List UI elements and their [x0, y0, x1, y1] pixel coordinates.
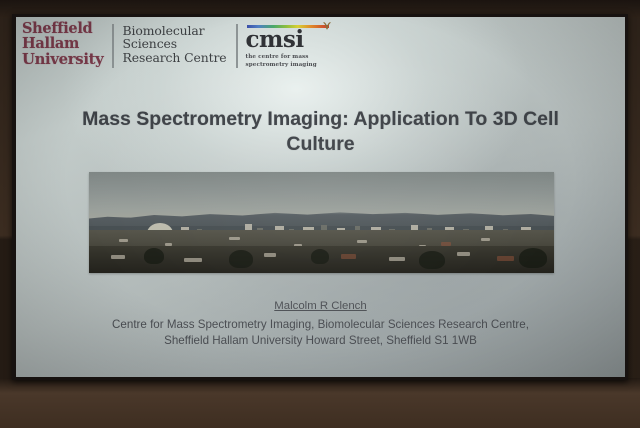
photo-detail — [111, 255, 125, 259]
slide-title: Mass Spectrometry Imaging: Application T… — [68, 107, 573, 156]
bsrc-logo-line2: Sciences — [122, 37, 226, 50]
photo-detail — [519, 248, 547, 268]
photo-detail — [229, 250, 253, 268]
photo-detail — [341, 254, 356, 259]
slide-header-logos: Sheffield Hallam University Biomolecular… — [16, 17, 625, 75]
photo-detail — [457, 252, 470, 256]
wall-below-screen — [0, 378, 640, 428]
sheffield-hallam-university-logo: Sheffield Hallam University — [22, 22, 103, 67]
cmsi-sparkle-icon: ⋎ — [323, 20, 331, 31]
bsrc-logo-line1: Biomolecular — [122, 24, 226, 37]
cmsi-tagline: the centre for mass spectrometry imaging — [246, 53, 329, 70]
logo-divider-1 — [112, 24, 114, 68]
affiliation-block: Centre for Mass Spectrometry Imaging, Bi… — [58, 317, 583, 349]
photo-detail — [144, 248, 164, 264]
photo-detail — [311, 249, 329, 264]
photo-detail — [119, 239, 128, 242]
photo-detail — [389, 257, 405, 261]
sheffield-panorama-photo — [89, 172, 554, 273]
biomolecular-sciences-research-centre-logo: Biomolecular Sciences Research Centre — [122, 22, 226, 64]
shu-logo-line2: Hallam — [22, 37, 103, 52]
photo-detail — [497, 256, 514, 261]
author-name: Malcolm R Clench — [68, 300, 573, 312]
cmsi-logo: cmsi ⋎ the centre for mass spectrometry … — [246, 22, 329, 70]
room-background: Sheffield Hallam University Biomolecular… — [0, 0, 640, 428]
photo-detail — [419, 251, 445, 269]
affiliation-line-1: Centre for Mass Spectrometry Imaging, Bi… — [58, 317, 583, 333]
cmsi-tagline-line1: the centre for mass — [246, 53, 329, 61]
cmsi-tagline-line2: spectrometry imaging — [246, 61, 329, 69]
photo-detail — [184, 258, 202, 262]
photo-detail — [357, 240, 367, 243]
cmsi-wordmark-text: cmsi — [246, 26, 304, 53]
affiliation-line-2: Sheffield Hallam University Howard Stree… — [58, 333, 583, 349]
photo-foreground — [89, 246, 554, 273]
shu-logo-line3: University — [22, 52, 103, 67]
photo-detail — [264, 253, 276, 257]
bsrc-logo-line3: Research Centre — [122, 51, 226, 64]
photo-detail — [229, 237, 240, 240]
logo-divider-2 — [236, 24, 238, 68]
cmsi-wordmark: cmsi ⋎ — [246, 29, 329, 51]
presentation-slide: Sheffield Hallam University Biomolecular… — [16, 17, 625, 377]
photo-detail — [481, 238, 490, 241]
